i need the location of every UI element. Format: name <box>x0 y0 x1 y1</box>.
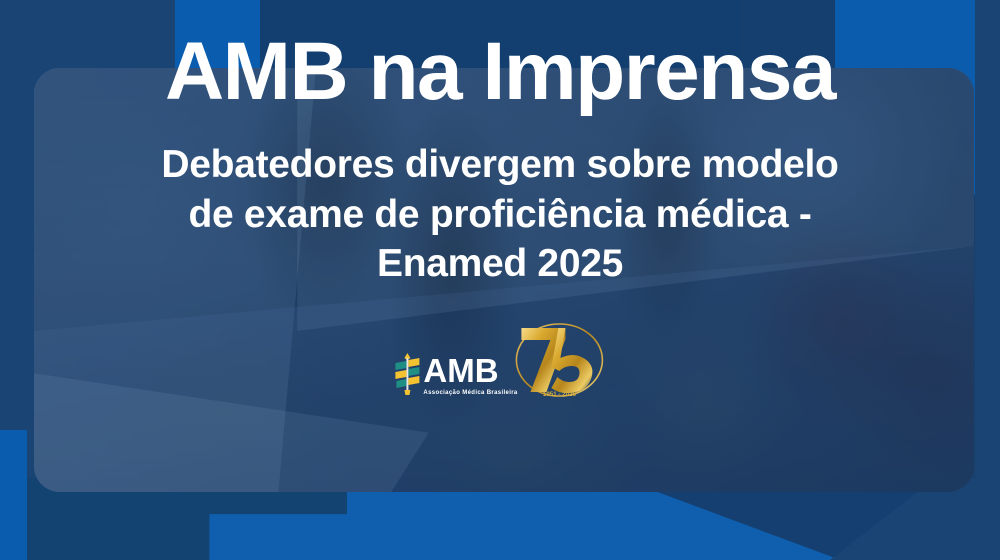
anniversary-years-label: 1951 - 2026 <box>543 391 577 398</box>
amb-acronym: AMB <box>423 354 517 387</box>
amb-logo: AMB Associação Médica Brasileira <box>394 322 605 400</box>
caduceus-icon <box>394 352 420 396</box>
banner-subtitle-line-2: de exame de proficiência médica - <box>161 190 838 240</box>
amb-full-name: Associação Médica Brasileira <box>423 390 517 396</box>
banner-content: AMB na Imprensa Debatedores divergem sob… <box>0 0 1000 560</box>
banner-subtitle: Debatedores divergem sobre modelo de exa… <box>161 140 838 290</box>
banner-graphic: AMB na Imprensa Debatedores divergem sob… <box>0 0 1000 560</box>
banner-subtitle-line-1: Debatedores divergem sobre modelo <box>161 140 838 190</box>
amb-logo-inner: AMB Associação Médica Brasileira <box>394 322 605 400</box>
amb-wordmark-group: AMB Associação Médica Brasileira <box>423 354 517 396</box>
banner-subtitle-line-3: Enamed 2025 <box>161 239 838 289</box>
anniversary-75-graphic: 1951 - 2026 <box>514 322 606 400</box>
banner-title: AMB na Imprensa <box>165 30 835 114</box>
anniversary-mark: 1951 - 2026 <box>514 322 606 400</box>
